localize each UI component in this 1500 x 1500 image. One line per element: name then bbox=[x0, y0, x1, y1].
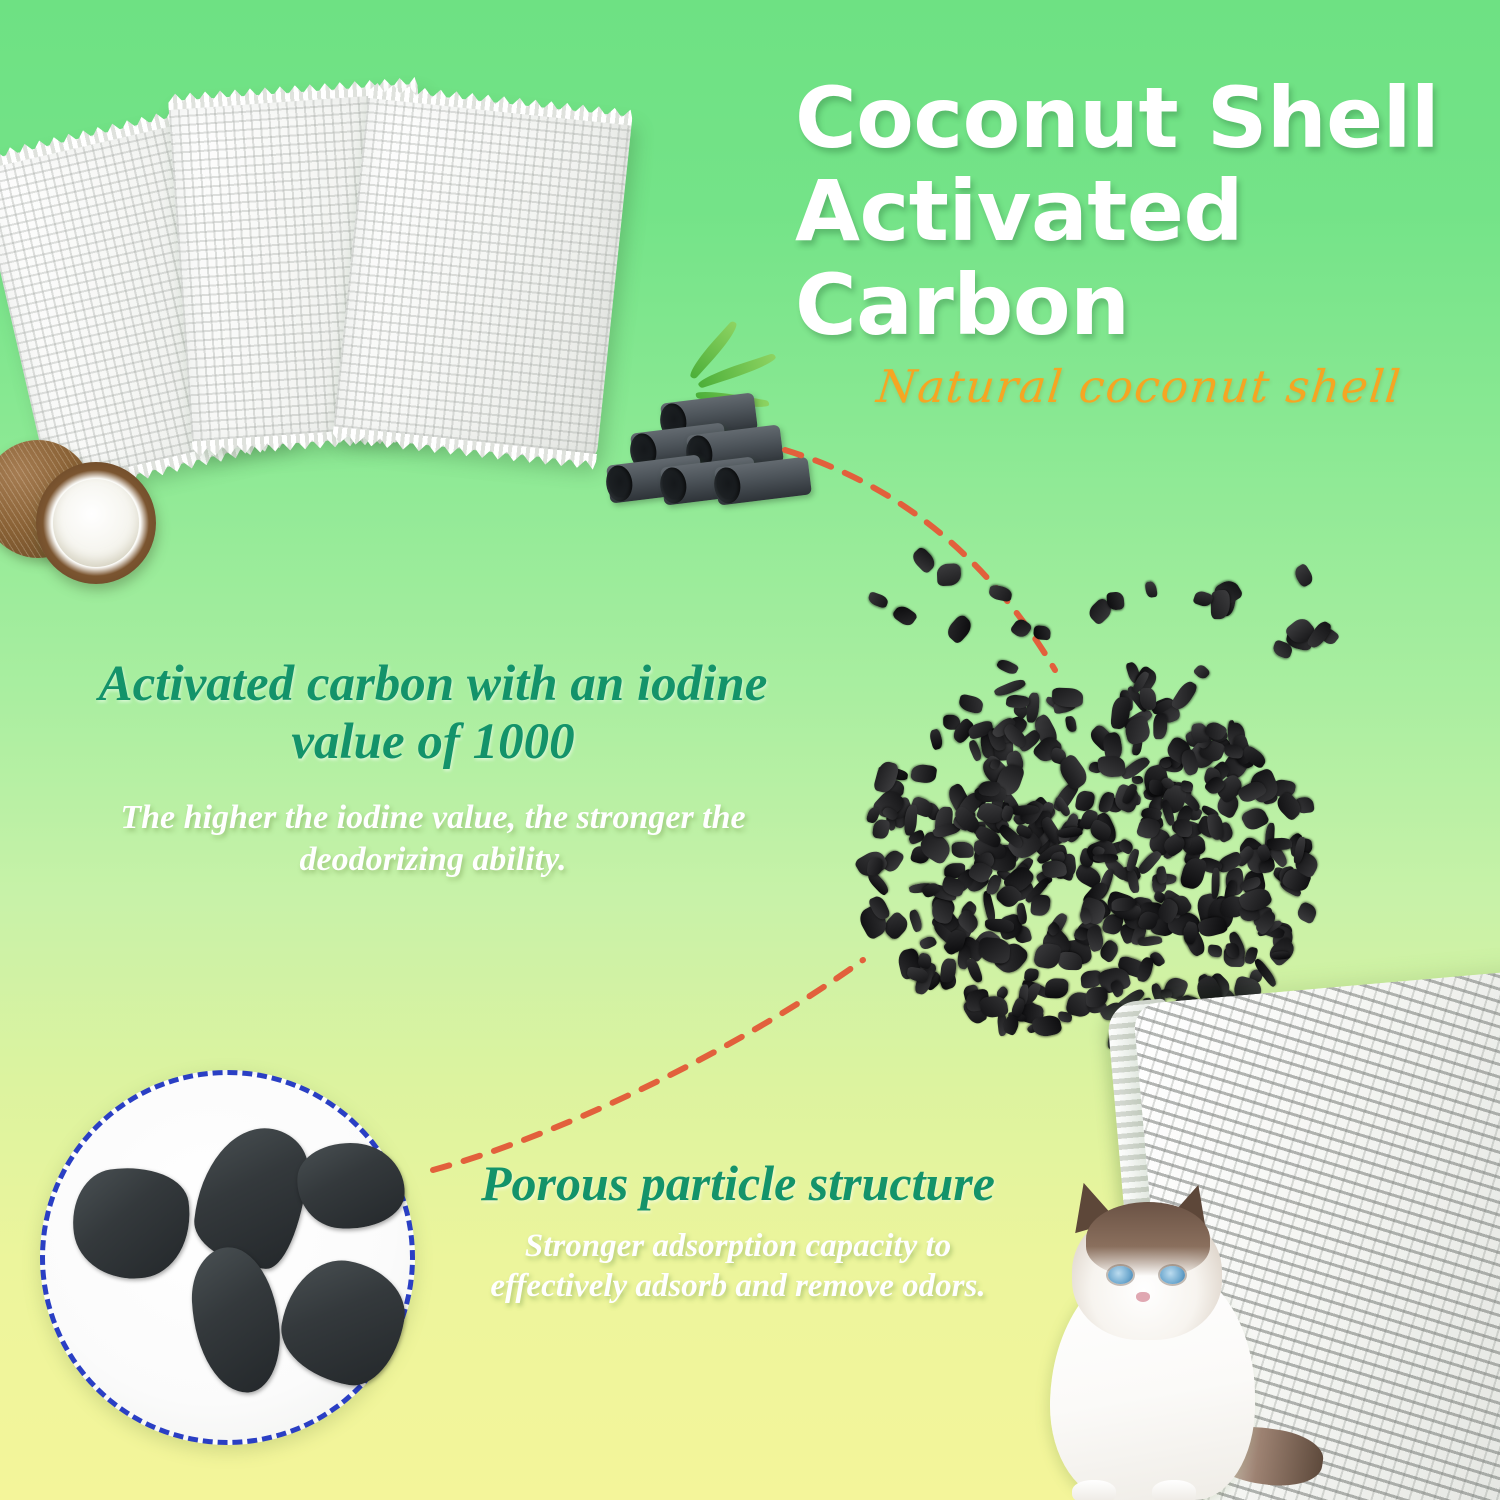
porous-carbon-chunk bbox=[66, 1159, 198, 1286]
carbon-granule bbox=[1192, 663, 1211, 681]
cat-face-mask bbox=[1086, 1202, 1210, 1276]
coconut-half bbox=[36, 462, 156, 584]
carbon-granule bbox=[1033, 626, 1051, 641]
carbon-granule bbox=[1058, 952, 1083, 971]
carbon-granule bbox=[1175, 819, 1193, 838]
feature-iodine-heading: Activated carbon with an iodine value of… bbox=[38, 655, 828, 771]
carbon-granule bbox=[952, 841, 974, 857]
carbon-granule bbox=[1065, 716, 1078, 733]
feature-iodine-body: The higher the iodine value, the stronge… bbox=[38, 797, 828, 881]
carbon-granule bbox=[943, 613, 975, 645]
cat-paw bbox=[1152, 1480, 1196, 1500]
carbon-granule bbox=[918, 934, 937, 951]
carbon-granule bbox=[1106, 591, 1125, 610]
magnified-particles-circle bbox=[40, 1070, 415, 1445]
cat-eye-right bbox=[1160, 1266, 1185, 1284]
porous-carbon-chunk bbox=[273, 1252, 412, 1393]
title-block: Coconut Shell Activated Carbon Natural c… bbox=[795, 78, 1495, 413]
feature-porous-heading: Porous particle structure bbox=[452, 1155, 1024, 1212]
carbon-granule bbox=[866, 857, 883, 877]
feature-porous-body: Stronger adsorption capacity to effectiv… bbox=[452, 1226, 1024, 1307]
porous-carbon-chunk bbox=[190, 1122, 312, 1273]
carbon-granule bbox=[1145, 581, 1158, 599]
carbon-granule bbox=[957, 693, 984, 714]
carbon-granule bbox=[1045, 978, 1069, 999]
charcoal-tubes-image bbox=[612, 398, 822, 533]
carbon-granule bbox=[1032, 941, 1061, 970]
carbon-granule bbox=[1212, 867, 1220, 898]
carbon-granule bbox=[907, 909, 923, 933]
carbon-granule bbox=[867, 591, 890, 609]
cat-paw bbox=[1072, 1480, 1116, 1500]
coconut-image bbox=[0, 432, 152, 597]
title-line-3: Carbon bbox=[795, 265, 1495, 346]
carbon-granule bbox=[1295, 901, 1319, 925]
carbon-granule bbox=[987, 584, 1012, 602]
cat-nose bbox=[1136, 1292, 1150, 1302]
carbon-granule bbox=[965, 957, 984, 984]
feature-iodine: Activated carbon with an iodine value of… bbox=[38, 655, 828, 882]
carbon-granule bbox=[936, 564, 961, 587]
carbon-granule bbox=[1098, 755, 1126, 777]
cat-eye-left bbox=[1108, 1266, 1133, 1284]
carbon-granule bbox=[910, 763, 937, 784]
ragdoll-cat-image bbox=[1020, 1180, 1350, 1500]
carbon-granule bbox=[1208, 945, 1223, 958]
carbon-granule bbox=[995, 657, 1019, 676]
carbon-granule bbox=[979, 937, 1012, 964]
carbon-granule bbox=[1266, 838, 1291, 851]
poster-canvas: Coconut Shell Activated Carbon Natural c… bbox=[0, 0, 1500, 1500]
carbon-granule bbox=[1009, 617, 1033, 641]
carbon-granule bbox=[1178, 855, 1207, 890]
carbon-granule bbox=[1075, 790, 1096, 813]
carbon-granule bbox=[1138, 935, 1163, 947]
title-line-2: Activated bbox=[795, 171, 1495, 252]
carbon-granule bbox=[1170, 679, 1200, 714]
carbon-granule bbox=[1153, 713, 1167, 740]
porous-carbon-chunk bbox=[294, 1139, 408, 1232]
mesh-bag-right bbox=[333, 89, 633, 463]
carbon-granule bbox=[1030, 894, 1051, 916]
title-subtitle: Natural coconut shell bbox=[874, 360, 1498, 413]
carbon-granule bbox=[1024, 968, 1039, 983]
feature-porous: Porous particle structure Stronger adsor… bbox=[452, 1155, 1024, 1306]
carbon-granule bbox=[1140, 688, 1157, 710]
carbon-granule bbox=[910, 546, 938, 575]
dashed-arrow-bottom bbox=[408, 940, 878, 1180]
carbon-granule bbox=[1291, 562, 1315, 588]
carbon-granule bbox=[891, 603, 918, 628]
title-line-1: Coconut Shell bbox=[795, 78, 1495, 159]
carbon-granule bbox=[928, 729, 944, 751]
